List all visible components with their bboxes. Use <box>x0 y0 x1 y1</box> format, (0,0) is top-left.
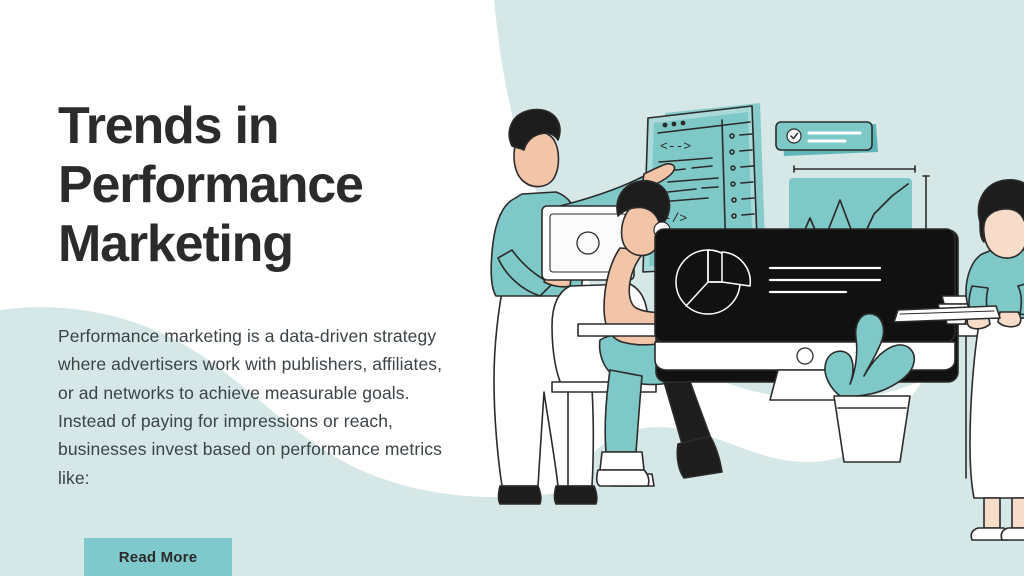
shoe-seated-left <box>597 470 649 486</box>
window-dot-icon <box>672 122 677 127</box>
monitor-button-icon <box>797 348 813 364</box>
window-dot-icon <box>663 123 668 128</box>
hand-w-right <box>998 312 1021 327</box>
leg-lower <box>605 370 642 452</box>
headline-line-2: Performance <box>58 156 458 215</box>
check-circle-icon <box>787 129 801 143</box>
shoe-right <box>555 486 597 504</box>
shoe-seated-right <box>677 436 722 478</box>
shoe-left <box>499 486 541 504</box>
headline-line-1: Trends in <box>58 97 458 156</box>
office-team-analytics-illustration: <--> <-/> <box>460 0 1024 576</box>
slide-canvas: Trends in Performance Marketing Performa… <box>0 0 1024 576</box>
text-column: Trends in Performance Marketing Performa… <box>0 0 470 576</box>
read-more-button[interactable]: Read More <box>84 538 232 576</box>
page-title: Trends in Performance Marketing <box>58 97 458 273</box>
skirt <box>970 318 1024 498</box>
leg-left <box>984 498 1000 528</box>
notification-card <box>776 122 878 156</box>
window-dot-icon <box>681 121 686 126</box>
shoe-w-right <box>1001 528 1024 540</box>
headline-line-3: Marketing <box>58 215 458 274</box>
plant-pot <box>834 396 910 462</box>
leg-right <box>1012 498 1024 528</box>
sock-white <box>600 452 644 470</box>
code-tag-open: <--> <box>660 139 691 154</box>
body-paragraph: Performance marketing is a data-driven s… <box>58 322 458 492</box>
